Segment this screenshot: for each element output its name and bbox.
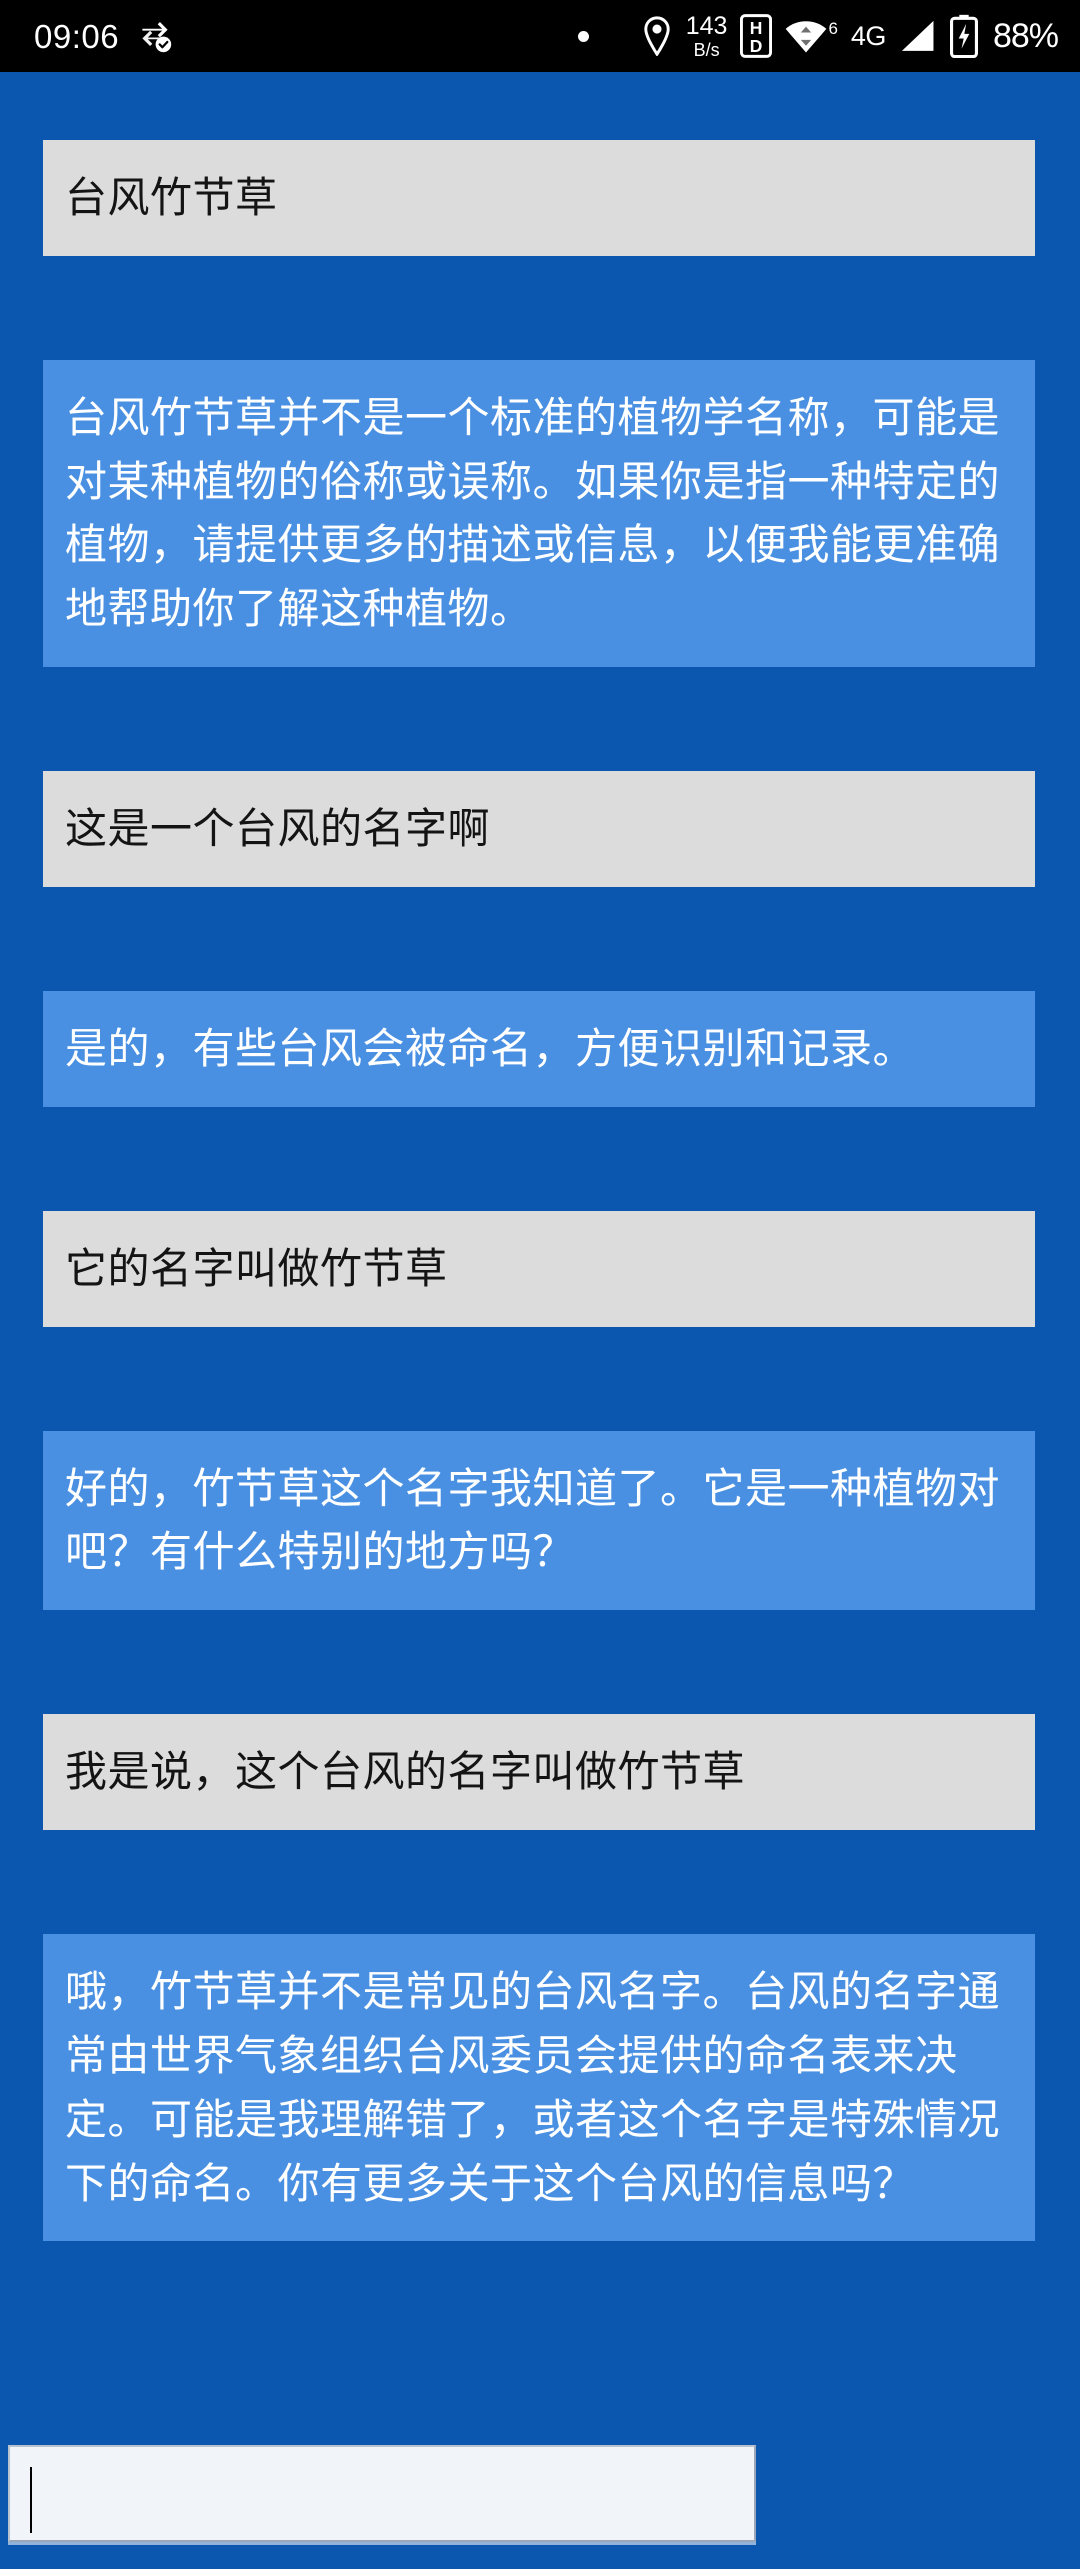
chat-bubble-user[interactable]: 台风竹节草 [43, 140, 1035, 256]
recording-dot-icon [578, 31, 589, 42]
chat-message-list[interactable]: 台风竹节草 台风竹节草并不是一个标准的植物学名称，可能是对某种植物的俗称或误称。… [0, 72, 1080, 2403]
signal-bars-icon [899, 19, 937, 53]
phone-screen: 09:06 [0, 0, 1080, 2569]
wifi-icon: 6 [785, 18, 837, 54]
chat-bubble-assistant[interactable]: 台风竹节草并不是一个标准的植物学名称，可能是对某种植物的俗称或误称。如果你是指一… [43, 360, 1035, 667]
chat-bubble-user[interactable]: 它的名字叫做竹节草 [43, 1211, 1035, 1327]
chat-bubble-user[interactable]: 这是一个台风的名字啊 [43, 771, 1035, 887]
mobile-network-label: 4G [851, 21, 886, 52]
svg-text:D: D [750, 36, 763, 56]
status-bar-left: 09:06 [34, 18, 173, 54]
text-caret [30, 2467, 32, 2533]
chat-bubble-assistant[interactable]: 哦，竹节草并不是常见的台风名字。台风的名字通常由世界气象组织台风委员会提供的命名… [43, 1934, 1035, 2241]
chat-bubble-assistant[interactable]: 好的，竹节草这个名字我知道了。它是一种植物对吧？有什么特别的地方吗？ [43, 1431, 1035, 1611]
battery-percent-label: 88% [993, 17, 1058, 56]
status-bar: 09:06 [0, 0, 1080, 72]
hd-icon: H D [740, 14, 772, 58]
svg-text:H: H [750, 18, 763, 38]
network-speed-indicator: 143 B/s [686, 14, 728, 59]
network-speed-unit: B/s [694, 41, 720, 59]
chat-bubble-user[interactable]: 我是说，这个台风的名字叫做竹节草 [43, 1714, 1035, 1830]
message-input[interactable] [8, 2445, 756, 2542]
wifi-generation-label: 6 [828, 20, 837, 37]
sync-check-icon [137, 18, 173, 54]
network-speed-value: 143 [686, 14, 728, 39]
battery-charging-icon [950, 14, 978, 58]
message-input-bar [0, 2403, 1080, 2569]
status-bar-right: 143 B/s H D 6 4G [578, 14, 1058, 59]
status-bar-clock: 09:06 [34, 20, 119, 53]
location-pin-icon [641, 16, 673, 56]
chat-bubble-assistant[interactable]: 是的，有些台风会被命名，方便识别和记录。 [43, 991, 1035, 1107]
